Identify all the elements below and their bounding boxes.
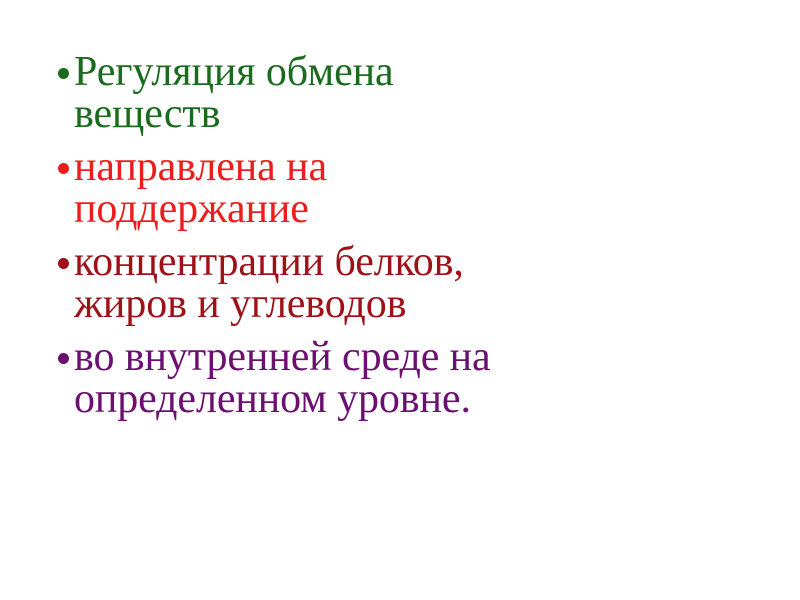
bullet-text-3: концентрации белков, жиров и углеводов	[74, 242, 756, 325]
bullet-text-2: направлена на поддержание	[74, 147, 756, 230]
bullet-item-2[interactable]: направлена на поддержание	[56, 147, 756, 230]
bullet-dot-icon	[56, 52, 74, 93]
bullet-dot-icon	[56, 147, 74, 188]
bullet-item-3[interactable]: концентрации белков, жиров и углеводов	[56, 242, 756, 325]
bullet-text-4: во внутренней среде на определенном уров…	[74, 337, 756, 420]
bullet-item-1[interactable]: Регуляция обмена веществ	[56, 52, 756, 135]
slide-canvas: Регуляция обмена веществ направлена на п…	[0, 0, 800, 600]
bullet-text-1: Регуляция обмена веществ	[74, 52, 756, 135]
bullet-list: Регуляция обмена веществ направлена на п…	[56, 52, 756, 421]
bullet-item-4[interactable]: во внутренней среде на определенном уров…	[56, 337, 756, 420]
bullet-dot-icon	[56, 242, 74, 283]
bullet-dot-icon	[56, 337, 74, 378]
